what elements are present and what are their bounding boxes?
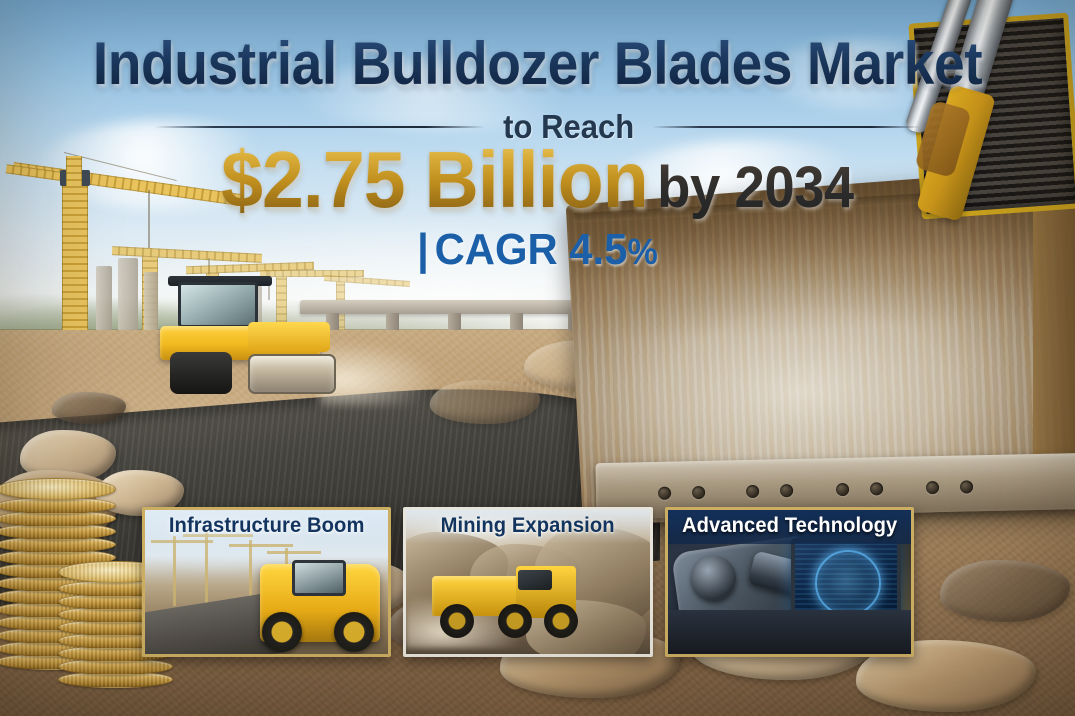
haul-truck xyxy=(432,566,580,638)
card-mining-expansion[interactable]: Mining Expansion xyxy=(403,507,652,657)
card-title: Infrastructure Boom xyxy=(150,514,384,538)
dust-cloud xyxy=(320,340,440,406)
bulldozer-blade xyxy=(565,186,1075,516)
driver-cards: Infrastructure Boom Mining E xyxy=(142,507,914,657)
background-building xyxy=(118,258,138,332)
excavator-machine xyxy=(845,0,1075,222)
cloud xyxy=(300,60,620,130)
card-infrastructure-boom[interactable]: Infrastructure Boom xyxy=(142,507,391,657)
card-advanced-technology[interactable]: Advanced Technology xyxy=(665,507,914,657)
road-roller-vehicle xyxy=(152,278,358,396)
background-building xyxy=(96,266,112,332)
promo-banner: Industrial Bulldozer Blades Market to Re… xyxy=(0,0,1075,716)
robot-joint xyxy=(692,556,736,600)
loader-cab xyxy=(292,560,346,596)
card-title: Advanced Technology xyxy=(673,514,907,538)
card-title: Mining Expansion xyxy=(411,514,645,538)
machine-base xyxy=(668,610,911,654)
